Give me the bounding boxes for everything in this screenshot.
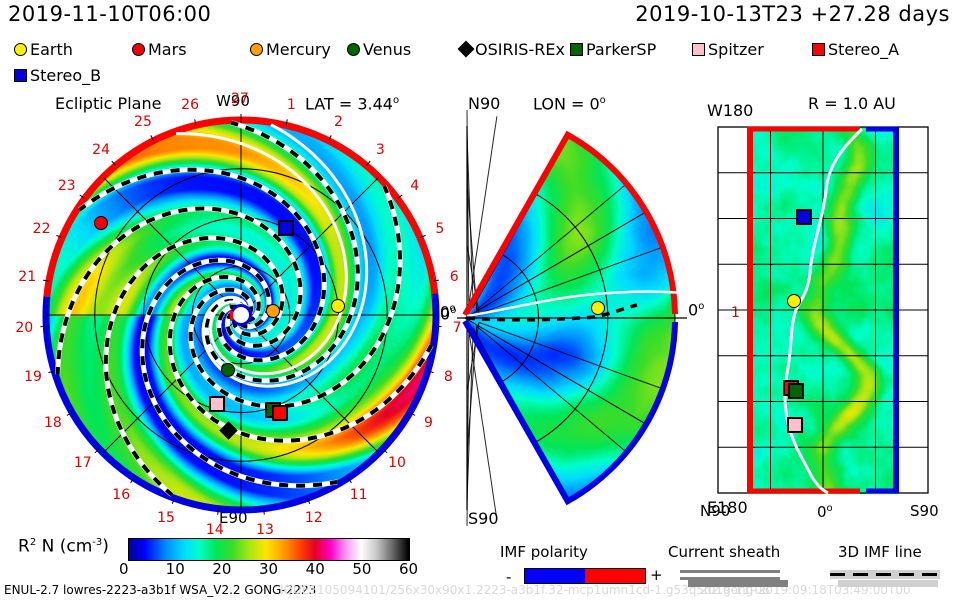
body-marker-parkersp bbox=[788, 383, 804, 399]
mercury-marker-icon bbox=[250, 43, 263, 56]
map-x-tick-degree-sign: o bbox=[827, 503, 833, 514]
body-marker-stereo-b bbox=[796, 209, 812, 225]
ecliptic-tick-14: 14 bbox=[206, 522, 224, 538]
ecliptic-tick-15: 15 bbox=[157, 510, 175, 526]
ecliptic-tick-19: 19 bbox=[24, 369, 42, 385]
legend-mercury: Mercury bbox=[250, 40, 331, 58]
footer-gray-block-2 bbox=[838, 580, 938, 587]
ecliptic-tick-3: 3 bbox=[376, 142, 385, 158]
meridional-overlay bbox=[455, 108, 690, 528]
ecliptic-tick-21: 21 bbox=[18, 269, 36, 285]
colorbar-tick-40: 40 bbox=[306, 562, 325, 577]
ecliptic-tick-23: 23 bbox=[58, 178, 76, 194]
colorbar bbox=[128, 538, 410, 561]
osiris-rex-marker-icon bbox=[458, 41, 475, 58]
legend-stereo-b: Stereo_B bbox=[14, 66, 101, 84]
map-x-tick-label: N90 bbox=[700, 502, 730, 520]
body-marker-mercury bbox=[266, 304, 280, 318]
colorbar-tick-50: 50 bbox=[352, 562, 371, 577]
body-marker-earth bbox=[331, 299, 345, 313]
imf-line-dash bbox=[853, 573, 868, 576]
footer-run-text: IQUE1105094101/256x30x90x1.2223-a3b1f.32… bbox=[280, 584, 911, 596]
cbar-rest: N (cm bbox=[36, 537, 92, 557]
legend-label: ParkerSP bbox=[586, 40, 656, 59]
venus-marker-icon bbox=[347, 43, 360, 56]
map-x-tick-N90: N90 bbox=[700, 504, 730, 519]
ecliptic-tick-26: 26 bbox=[181, 97, 199, 113]
mars-marker-icon bbox=[132, 43, 145, 56]
imf-3d-line bbox=[467, 292, 683, 316]
ecliptic-tick-13: 13 bbox=[256, 522, 274, 538]
current-sheath-title: Current sheath bbox=[668, 543, 780, 561]
colorbar-tick-0: 0 bbox=[119, 562, 129, 577]
latitude-grid-arc bbox=[467, 330, 497, 526]
lat-degree-sign: o bbox=[393, 95, 399, 106]
legend-label: Venus bbox=[363, 40, 411, 59]
legend-label: Earth bbox=[30, 40, 73, 59]
ecliptic-tick-18: 18 bbox=[44, 415, 62, 431]
imf-plus-sign: + bbox=[650, 566, 663, 584]
sun-icon bbox=[233, 307, 249, 323]
colorbar-tick-10: 10 bbox=[166, 562, 185, 577]
legend-label: Stereo_B bbox=[30, 66, 101, 85]
earth-marker-icon bbox=[14, 43, 27, 56]
map-overlay bbox=[700, 105, 950, 525]
legend-mars: Mars bbox=[132, 40, 187, 58]
current-sheath-swatch-top bbox=[680, 570, 780, 573]
ecliptic-tick-20: 20 bbox=[15, 320, 33, 336]
imf-line-title: 3D IMF line bbox=[838, 543, 922, 561]
imf-polarity-bar bbox=[524, 568, 646, 584]
latitude-grid-arc bbox=[467, 110, 497, 306]
ecliptic-tick-10: 10 bbox=[388, 455, 406, 471]
legend-stereo-a: Stereo_A bbox=[812, 40, 899, 58]
footer-model-text: ENUL-2.7 lowres-2223-a3b1f WSA_V2.2 GONG… bbox=[4, 584, 316, 596]
imf-polarity-title: IMF polarity bbox=[500, 543, 588, 561]
timestamp-current: 2019-11-10T06:00 bbox=[8, 4, 211, 25]
ecliptic-tick-27: 27 bbox=[231, 91, 249, 107]
legend-parkersp: ParkerSP bbox=[570, 40, 656, 58]
legend-label: Mars bbox=[148, 40, 187, 59]
cbar-r: R bbox=[18, 537, 30, 557]
mer-left-zero-value: 0 bbox=[440, 304, 450, 323]
map-x-tick-0: 0o bbox=[817, 504, 833, 520]
colorbar-tick-30: 30 bbox=[259, 562, 278, 577]
body-marker-stereo-b bbox=[278, 220, 294, 236]
ecliptic-tick-4: 4 bbox=[410, 178, 419, 194]
legend-label: OSIRIS-REx bbox=[475, 40, 565, 59]
legend-venus: Venus bbox=[347, 40, 411, 58]
figure-root: 2019-11-10T06:00 2019-10-13T23 +27.28 da… bbox=[0, 0, 960, 600]
map-x-tick-S90: S90 bbox=[910, 504, 939, 519]
legend-label: Mercury bbox=[266, 40, 331, 59]
ecliptic-tick-16: 16 bbox=[112, 487, 130, 503]
body-marker-spitzer bbox=[209, 396, 225, 412]
ecliptic-tick-1: 1 bbox=[287, 97, 296, 113]
meridional-left-zero: 0o bbox=[440, 306, 456, 322]
imf-line-dash bbox=[876, 573, 891, 576]
legend-label: Spitzer bbox=[708, 40, 764, 59]
ecliptic-tick-5: 5 bbox=[435, 221, 444, 237]
ecliptic-tick-9: 9 bbox=[424, 415, 433, 431]
timestamp-forecast: 2019-10-13T23 +27.28 days bbox=[635, 4, 950, 25]
ecliptic-tick-24: 24 bbox=[92, 142, 110, 158]
body-marker-earth bbox=[787, 294, 801, 308]
cbar-close: ) bbox=[102, 537, 109, 557]
polarity-edge-positive bbox=[465, 321, 675, 501]
footer-gray-block-1 bbox=[688, 580, 788, 587]
polarity-edge-negative bbox=[465, 135, 675, 315]
meridional-plot bbox=[455, 108, 690, 528]
lon-degree-sign: o bbox=[600, 95, 606, 106]
latitude-grid-arc bbox=[467, 181, 626, 310]
legend-spitzer: Spitzer bbox=[692, 40, 764, 58]
rim-tick bbox=[218, 509, 219, 515]
cbar-unit-exp: -3 bbox=[92, 537, 102, 548]
colorbar-label: R2 N (cm-3) bbox=[18, 538, 109, 556]
legend-label: Stereo_A bbox=[828, 40, 899, 59]
legend-osiris-rex: OSIRIS-REx bbox=[460, 40, 565, 58]
body-marker-mars bbox=[94, 216, 108, 230]
ecliptic-tick-12: 12 bbox=[305, 510, 323, 526]
colorbar-tick-20: 20 bbox=[212, 562, 231, 577]
map-plot bbox=[700, 105, 950, 525]
imf-polarity-positive-swatch bbox=[585, 569, 645, 583]
imf-polarity-negative-swatch bbox=[525, 569, 585, 583]
ecliptic-tick-25: 25 bbox=[134, 114, 152, 130]
imf-line-swatch bbox=[830, 570, 940, 579]
legend-earth: Earth bbox=[14, 40, 73, 58]
parkersp-marker-icon bbox=[570, 43, 583, 56]
imf-line-dash bbox=[922, 573, 937, 576]
body-marker-venus bbox=[221, 363, 235, 377]
body-marker-earth bbox=[591, 301, 605, 315]
map-x-tick-label: 0 bbox=[817, 503, 827, 521]
ecliptic-tick-8: 8 bbox=[444, 369, 453, 385]
map-x-tick-label: S90 bbox=[910, 502, 939, 520]
imf-line-dash bbox=[830, 573, 845, 576]
latitude-grid-arc bbox=[467, 326, 626, 455]
stereo-a-marker-icon bbox=[812, 43, 825, 56]
stereo-b-marker-icon bbox=[14, 69, 27, 82]
ecliptic-tick-2: 2 bbox=[334, 114, 343, 130]
imf-line-dash bbox=[899, 573, 914, 576]
rim-tick bbox=[264, 509, 265, 515]
ecliptic-tick-17: 17 bbox=[74, 455, 92, 471]
spitzer-marker-icon bbox=[692, 43, 705, 56]
colorbar-tick-60: 60 bbox=[399, 562, 418, 577]
ecliptic-plane-plot: 1234567891011121314151617181920212223242… bbox=[28, 108, 448, 528]
body-marker-spitzer bbox=[787, 417, 803, 433]
ecliptic-tick-22: 22 bbox=[33, 221, 51, 237]
body-marker-stereo-a bbox=[272, 405, 288, 421]
ecliptic-tick-11: 11 bbox=[350, 487, 368, 503]
